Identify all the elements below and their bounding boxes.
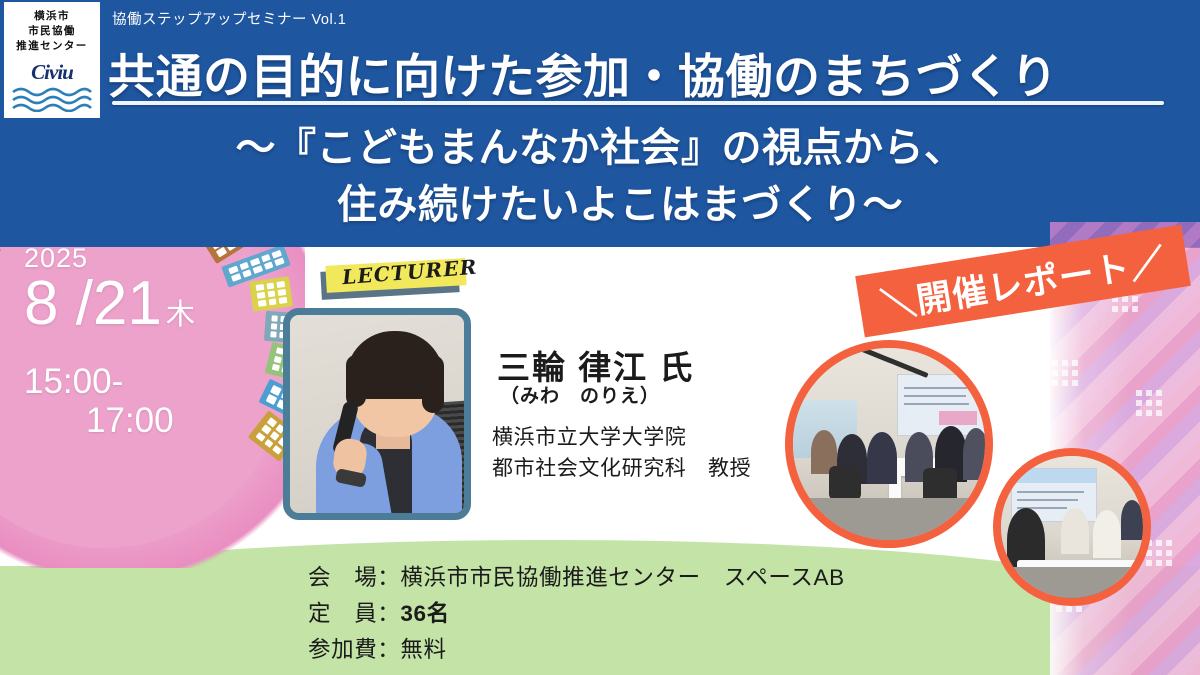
room-floor	[793, 498, 985, 540]
capacity-value: 36名	[400, 601, 449, 626]
wave-icon	[11, 86, 93, 112]
subtitle-line-2: 住み続けたいよこはまづくり～	[0, 177, 1200, 234]
speaker-affiliation-line-1: 横浜市立大学大学院	[492, 422, 751, 453]
subtitle-line-1: ～『こどもまんなか社会』の視点から、	[236, 126, 965, 170]
screen-highlight	[1012, 469, 1096, 483]
organization-logo: 横浜市 市民協働 推進センター Civiu	[4, 2, 100, 118]
building-window	[256, 284, 264, 291]
page-title: 共通の目的に向けた参加・協働のまちづくり	[108, 38, 1058, 107]
building-window	[272, 445, 282, 455]
speaker-affiliation: 横浜市立大学大学院 都市社会文化研究科 教授	[492, 422, 751, 484]
event-poster: 横浜市 市民協働 推進センター Civiu 協働ステップアップセミナー Vol.…	[0, 0, 1200, 675]
event-day: 8 /21	[24, 269, 162, 338]
building-window	[278, 289, 286, 296]
portrait-hair-right	[422, 355, 444, 413]
screen-line	[904, 395, 966, 397]
building-window	[270, 384, 281, 395]
event-time-start: 15:00-	[24, 363, 195, 401]
room-person	[867, 432, 897, 484]
building-window	[242, 269, 252, 277]
building-window	[271, 331, 277, 337]
screen-highlight	[939, 411, 977, 425]
speaker-name-kana: （みわ のりえ）	[500, 381, 660, 408]
room-person	[1093, 510, 1121, 558]
building-window	[271, 323, 277, 329]
building-window	[269, 431, 279, 441]
event-date: 8 /21木	[24, 272, 195, 347]
screen-line	[904, 403, 970, 405]
screen-line	[1017, 491, 1084, 493]
seminar-kicker: 協働ステップアップセミナー Vol.1	[112, 8, 346, 29]
building-illustration	[249, 276, 293, 311]
building-window	[264, 262, 274, 270]
capacity-label: 定 員：	[308, 601, 400, 626]
seminar-room-photo	[785, 340, 993, 548]
building-window	[266, 283, 274, 290]
logo-line-1: 横浜市	[34, 9, 70, 24]
building-window	[271, 364, 279, 372]
room-chair	[829, 466, 861, 500]
building-window	[261, 425, 271, 435]
screen-line	[1017, 499, 1077, 501]
event-details: 会 場：横浜市市民協働推進センター スペースAB 定 員：36名 参加費：無料	[308, 560, 845, 668]
building-window	[274, 258, 284, 266]
building-window	[272, 315, 278, 321]
logo-line-3: 推進センター	[16, 39, 87, 54]
logo-script-wordmark: Civiu	[31, 60, 73, 85]
building-window	[266, 393, 277, 404]
building-body	[249, 276, 293, 311]
speaker-affiliation-line-2: 都市社会文化研究科 教授	[492, 453, 751, 484]
building-window	[263, 439, 273, 449]
building-window	[258, 300, 266, 307]
building-window	[253, 265, 263, 273]
fee-label: 参加費：	[308, 637, 400, 662]
capacity-line: 定 員：36名	[308, 596, 845, 632]
discussion-group-photo	[993, 448, 1151, 606]
building-window	[269, 298, 277, 305]
room-person	[1121, 500, 1143, 540]
fee-line: 参加費：無料	[308, 632, 845, 668]
room-floor	[1001, 567, 1143, 598]
building-window	[274, 355, 282, 363]
building-window	[231, 273, 241, 281]
building-window	[255, 432, 265, 442]
screen-line	[904, 387, 974, 389]
building-window	[277, 281, 285, 288]
portrait-hair-left	[346, 355, 366, 407]
building-window	[279, 297, 287, 304]
room-person	[1061, 508, 1089, 554]
venue-label: 会 場：	[308, 565, 400, 590]
fee-value: 無料	[400, 637, 446, 662]
event-date-block: 2025 8 /21木 15:00- 17:00	[24, 243, 195, 441]
building-window	[257, 292, 265, 299]
page-subtitle: ～『こどもまんなか社会』の視点から、 住み続けたいよこはまづくり～	[0, 120, 1200, 234]
building-window	[268, 290, 276, 297]
venue-value: 横浜市市民協働推進センター スペースAB	[400, 565, 844, 590]
event-time-end: 17:00	[24, 401, 195, 441]
building-window	[216, 247, 227, 257]
title-underline	[112, 101, 1164, 105]
room-person	[963, 428, 989, 480]
speaker-portrait-photo	[283, 308, 471, 520]
venue-line: 会 場：横浜市市民協働推進センター スペースAB	[308, 560, 845, 596]
event-weekday: 木	[166, 299, 195, 331]
logo-line-2: 市民協働	[28, 24, 76, 39]
